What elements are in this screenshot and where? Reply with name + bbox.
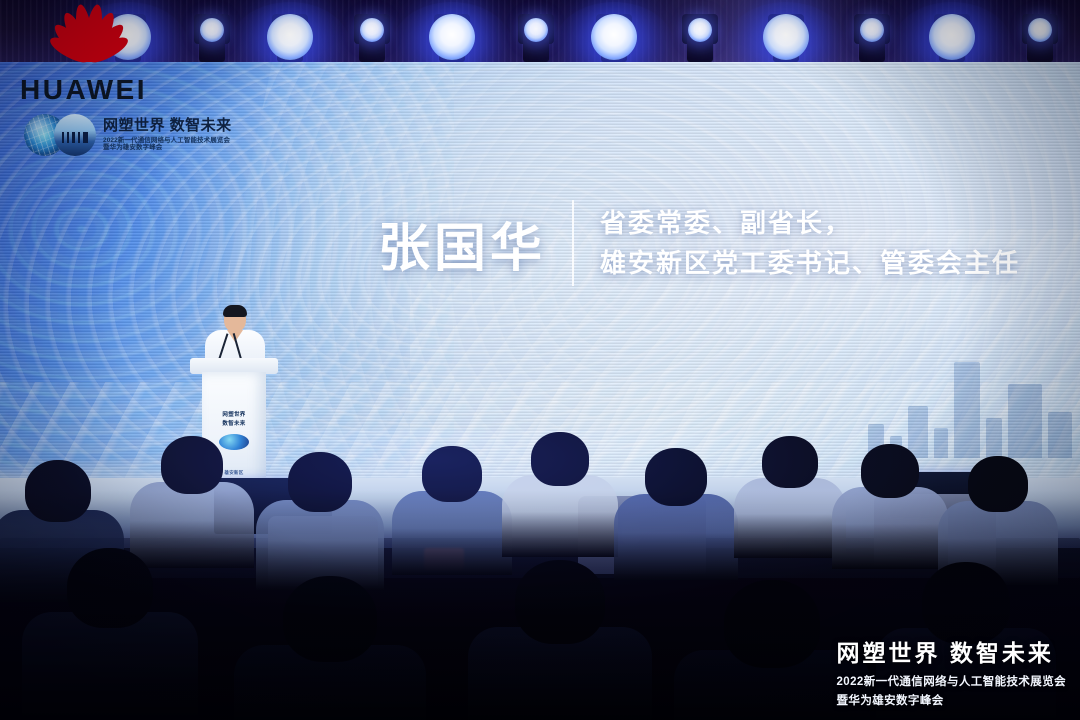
audience-member [502,432,618,568]
audience-member-shoulders [22,612,198,720]
speaker-hair [223,305,247,317]
light-bulb-icon [360,18,384,42]
light-bulb-icon [429,14,475,60]
audience-member-head [515,560,605,644]
audience-member [234,576,426,720]
event-logo-orbs [24,112,96,158]
audience-member-head [288,452,352,512]
event-lockup-subtitle-2: 暨华为雄安数字峰会 [103,144,232,151]
audience-member-head [283,576,377,662]
huawei-wordmark: HUAWEI [20,74,212,106]
speaker-name: 张国华 [378,206,546,281]
audience-member-shoulders [502,475,618,557]
speaker-title-line-2: 雄安新区党工委书记、管委会主任 [600,243,1020,283]
huawei-brand-block: HUAWEI [12,2,212,106]
light-bulb-icon [688,18,712,42]
audience-member-head [922,562,1010,644]
light-bulb-icon [1028,18,1052,42]
light-bulb-icon [524,18,548,42]
light-bulb-icon [929,14,975,60]
audience-member-head [161,436,223,494]
audience-member-head [762,436,818,488]
audience-member-head [25,460,91,522]
audience-member-head [422,446,482,502]
audience-member [22,548,198,720]
light-bulb-icon [591,14,637,60]
audience-member-head [968,456,1028,512]
light-bulb-icon [763,14,809,60]
vertical-divider-rule [572,200,574,286]
audience-member [734,436,846,568]
watermark-title: 网塑世界 数智未来 [837,634,1066,668]
speaker-identification-overlay: 张国华 省委常委、副省长， 雄安新区党工委书记、管委会主任 [378,200,1020,286]
audience-member [468,560,652,720]
speaker-title-line-1: 省委常委、副省长， [600,203,1020,243]
event-logo-lockup: 网塑世界 数智未来 2022新一代通信网络与人工智能技术展览会 暨华为雄安数字峰… [24,112,232,158]
audience-member-shoulders [734,478,846,558]
event-lockup-title: 网塑世界 数智未来 [103,118,232,135]
audience-member-head [531,432,589,486]
watermark-subtitle-1: 2022新一代通信网络与人工智能技术展览会 [837,673,1066,689]
event-watermark: 网塑世界 数智未来 2022新一代通信网络与人工智能技术展览会 暨华为雄安数字峰… [837,634,1066,708]
huawei-flower-logo-icon [30,2,148,62]
conference-stage-photo: HUAWEI 网塑世界 数智未来 2022新一代通信网络与人工智能技术展览会 暨… [0,0,1080,720]
light-bulb-icon [860,18,884,42]
audience-member-head [861,444,919,498]
watermark-subtitle-2: 暨华为雄安数字峰会 [837,692,1066,708]
audience-member-head [724,580,820,668]
podium-text-line-1: 网塑世界 [202,410,266,418]
audience-member-head [67,548,153,628]
event-logo-text: 网塑世界 数智未来 2022新一代通信网络与人工智能技术展览会 暨华为雄安数字峰… [103,118,232,151]
light-bulb-icon [267,14,313,60]
audience-member-shoulders [832,487,948,569]
city-photo-orb-icon [54,114,96,156]
speaker-title-block: 省委常委、副省长， 雄安新区党工委书记、管委会主任 [600,203,1020,284]
audience-member-head [645,448,707,506]
audience-member [832,444,948,580]
podium-text-line-2: 数智未来 [202,419,266,427]
